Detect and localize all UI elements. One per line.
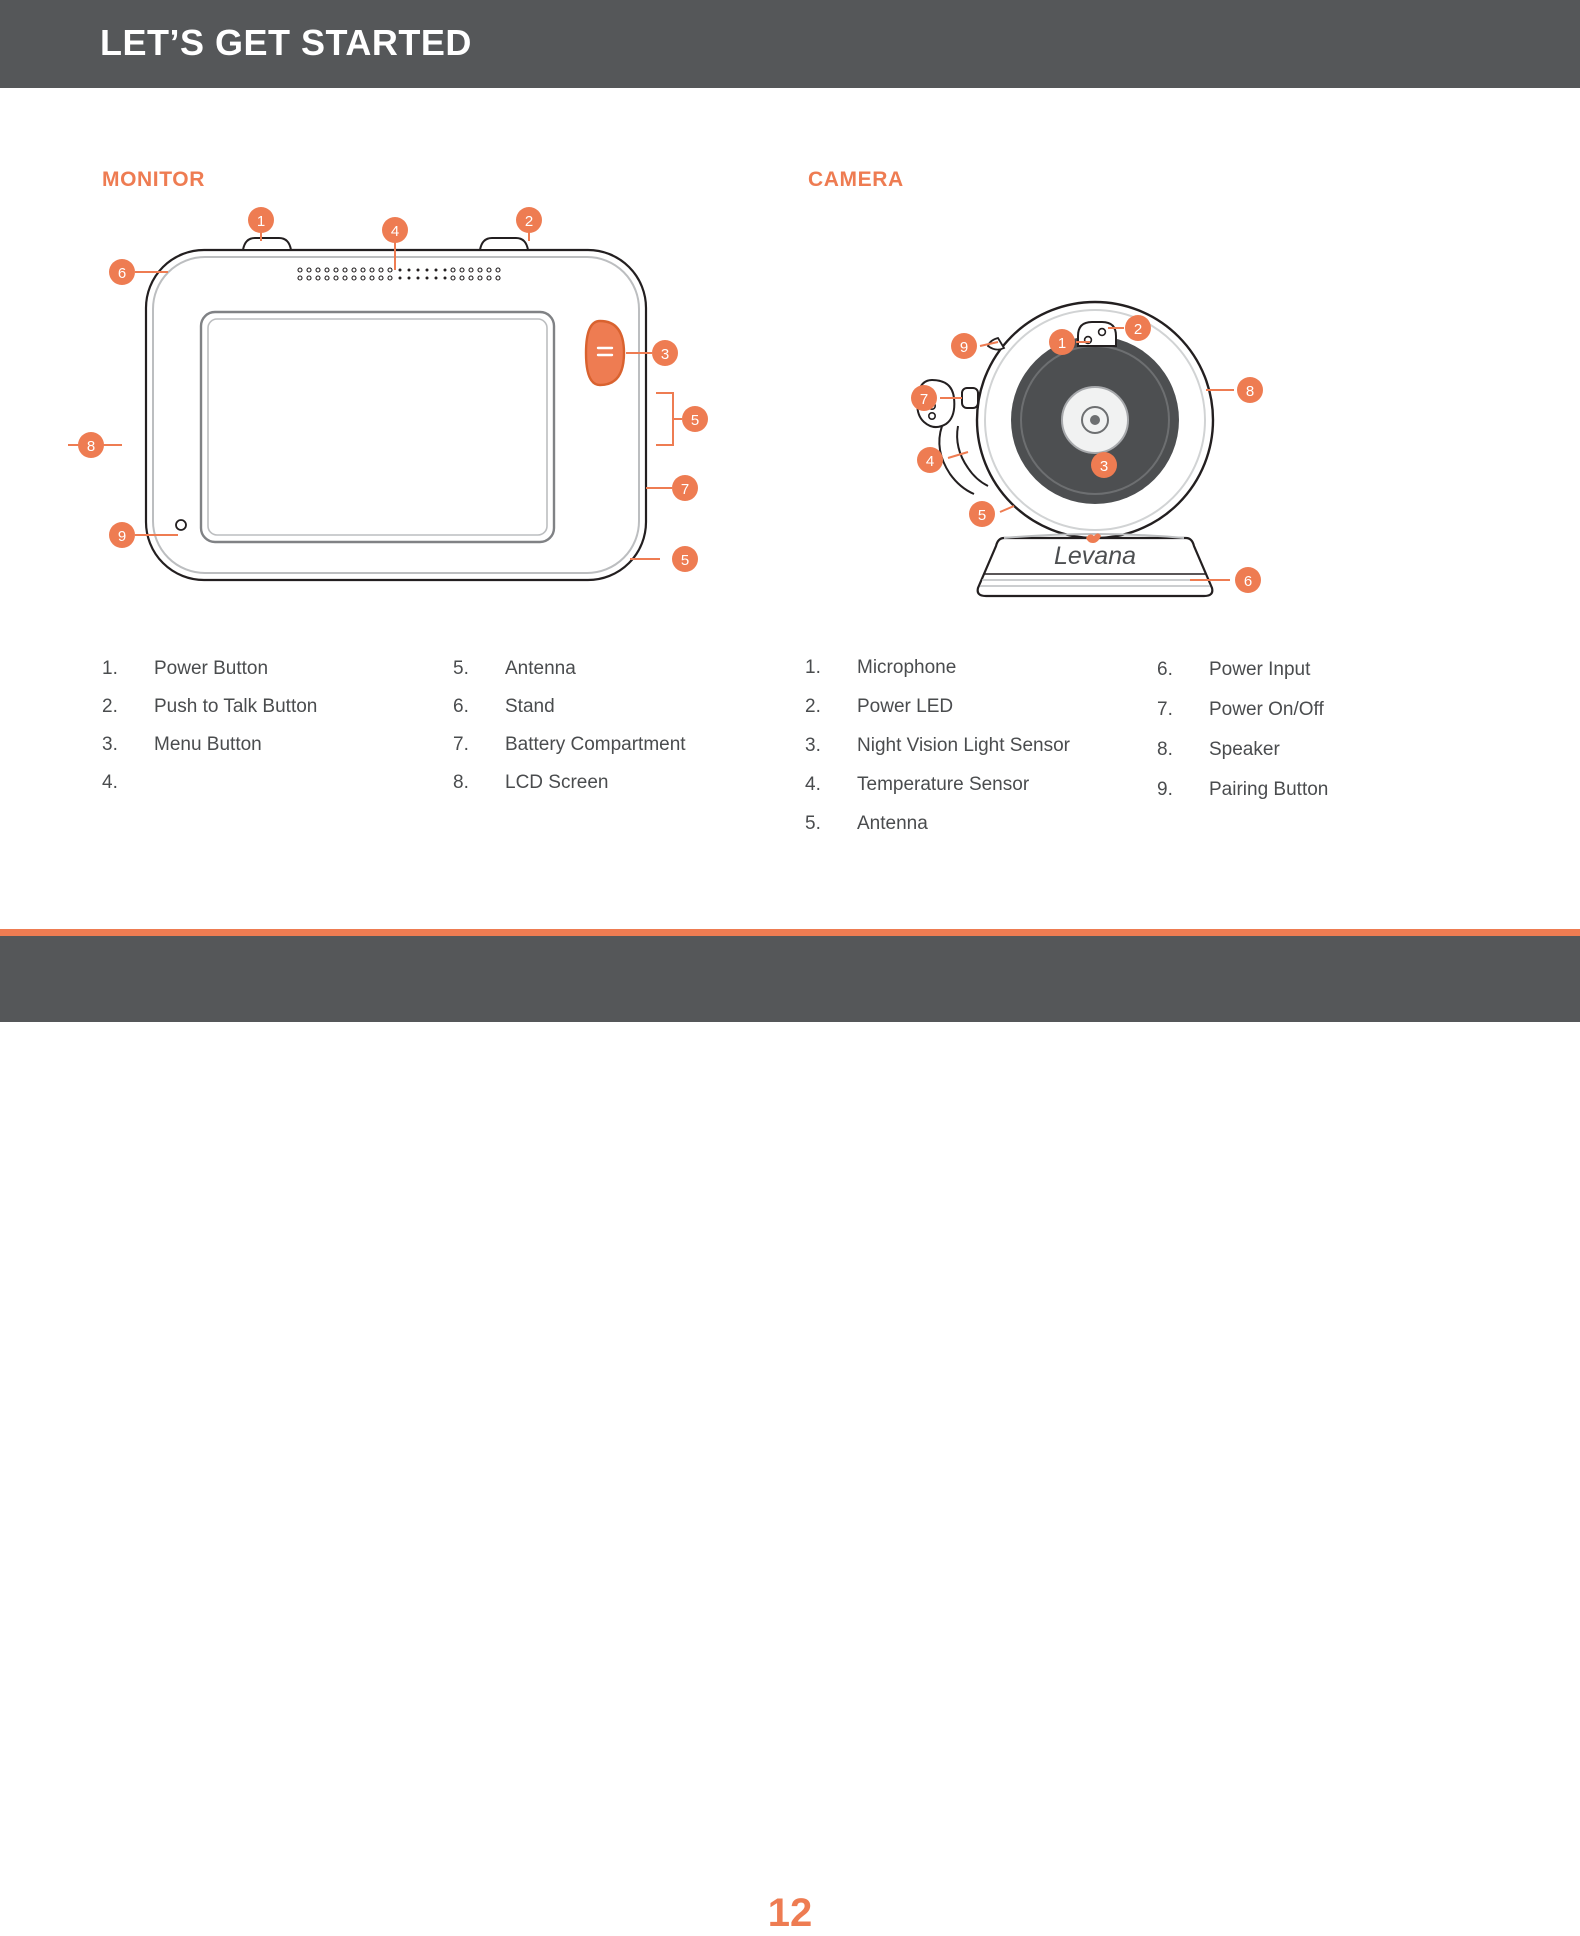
monitor-callout-8[interactable]: 8 bbox=[78, 432, 104, 458]
monitor-callout-1[interactable]: 1 bbox=[248, 207, 274, 233]
monitor-menu-button[interactable] bbox=[586, 321, 624, 385]
list-item-number: 5. bbox=[805, 804, 857, 843]
list-item-label: Stand bbox=[505, 688, 555, 726]
monitor-illustration: 1 2 3 4 5 5 6 7 8 9 bbox=[60, 195, 760, 595]
monitor-callout-4[interactable]: 4 bbox=[382, 217, 408, 270]
list-item: 7.Power On/Off bbox=[1157, 690, 1328, 730]
list-item-number: 7. bbox=[453, 726, 505, 764]
camera-callout-7[interactable]: 7 bbox=[911, 385, 937, 411]
list-item: 9.Pairing Button bbox=[1157, 770, 1328, 810]
monitor-callout-9[interactable]: 9 bbox=[109, 522, 135, 548]
list-item: 8.LCD Screen bbox=[453, 764, 686, 802]
callout-number: 8 bbox=[1246, 383, 1254, 400]
monitor-callout-5b[interactable]: 5 bbox=[672, 546, 698, 572]
list-item-number: 9. bbox=[1157, 770, 1209, 810]
callout-number: 7 bbox=[681, 481, 689, 498]
camera-callout-3[interactable]: 3 bbox=[1091, 452, 1117, 478]
camera-callout-5[interactable]: 5 bbox=[969, 501, 995, 527]
list-item-label: Antenna bbox=[505, 650, 576, 688]
page-number: 12 bbox=[0, 1891, 1580, 1936]
callout-number: 2 bbox=[525, 213, 533, 230]
list-item-number: 1. bbox=[102, 650, 154, 688]
list-item-label: Power LED bbox=[857, 687, 953, 726]
callout-number: 6 bbox=[1244, 573, 1252, 590]
list-item-label: Power Input bbox=[1209, 650, 1310, 690]
list-item-number: 2. bbox=[102, 688, 154, 726]
list-item-number: 3. bbox=[102, 726, 154, 764]
list-item-number: 6. bbox=[1157, 650, 1209, 690]
list-item-label: Microphone bbox=[857, 648, 956, 687]
callout-number: 2 bbox=[1134, 321, 1142, 338]
list-item-number: 7. bbox=[1157, 690, 1209, 730]
callout-number: 3 bbox=[661, 346, 669, 363]
list-item-number: 1. bbox=[805, 648, 857, 687]
list-item: 4.Temperature Sensor bbox=[805, 765, 1070, 804]
monitor-callout-5a[interactable]: 5 bbox=[682, 406, 708, 432]
list-item: 1.Microphone bbox=[805, 648, 1070, 687]
camera-callout-2[interactable]: 2 bbox=[1125, 315, 1151, 341]
camera-legend-right: 6.Power Input 7.Power On/Off 8.Speaker 9… bbox=[1157, 650, 1328, 810]
brand-text: Levana bbox=[1054, 542, 1136, 570]
list-item: 4. bbox=[102, 764, 317, 802]
callout-number: 9 bbox=[960, 339, 968, 356]
list-item: 7.Battery Compartment bbox=[453, 726, 686, 764]
list-item: 5.Antenna bbox=[453, 650, 686, 688]
callout-number: 7 bbox=[920, 391, 928, 408]
callout-number: 5 bbox=[681, 552, 689, 569]
list-item-label: Temperature Sensor bbox=[857, 765, 1029, 804]
callout-number: 8 bbox=[87, 438, 95, 455]
camera-legend-left: 1.Microphone 2.Power LED 3.Night Vision … bbox=[805, 648, 1070, 843]
list-item-label: LCD Screen bbox=[505, 764, 609, 802]
callout-number: 1 bbox=[257, 213, 265, 230]
callout-number: 4 bbox=[926, 453, 934, 470]
list-item-number: 4. bbox=[102, 764, 154, 802]
camera-power-jack[interactable] bbox=[962, 388, 978, 408]
list-item-label: Battery Compartment bbox=[505, 726, 686, 764]
callout-number: 5 bbox=[691, 412, 699, 429]
list-item-number: 5. bbox=[453, 650, 505, 688]
camera-callout-8[interactable]: 8 bbox=[1237, 377, 1263, 403]
section-heading-camera: CAMERA bbox=[808, 168, 904, 192]
monitor-lcd-screen bbox=[208, 319, 547, 535]
camera-callout-4[interactable]: 4 bbox=[917, 447, 943, 473]
callout-number: 4 bbox=[391, 223, 399, 240]
list-item-number: 8. bbox=[1157, 730, 1209, 770]
callout-number: 3 bbox=[1100, 458, 1108, 475]
monitor-legend-right: 5.Antenna 6.Stand 7.Battery Compartment … bbox=[453, 650, 686, 802]
list-item: 3.Night Vision Light Sensor bbox=[805, 726, 1070, 765]
callout-number: 9 bbox=[118, 528, 126, 545]
camera-callout-6[interactable]: 6 bbox=[1235, 567, 1261, 593]
monitor-speaker-grille bbox=[298, 268, 500, 280]
list-item: 1.Power Button bbox=[102, 650, 317, 688]
monitor-power-button-nub[interactable] bbox=[243, 238, 291, 250]
list-item-number: 6. bbox=[453, 688, 505, 726]
page-title: LET’S GET STARTED bbox=[100, 22, 472, 64]
list-item-label: Power On/Off bbox=[1209, 690, 1324, 730]
list-item-label: Pairing Button bbox=[1209, 770, 1328, 810]
list-item: 6.Power Input bbox=[1157, 650, 1328, 690]
camera-lens-center bbox=[1090, 415, 1100, 425]
monitor-callout-2[interactable]: 2 bbox=[516, 207, 542, 233]
list-item-number: 3. bbox=[805, 726, 857, 765]
callout-number: 6 bbox=[118, 265, 126, 282]
page-header: LET’S GET STARTED bbox=[0, 0, 1580, 88]
list-item-label: Power Button bbox=[154, 650, 268, 688]
monitor-legend-left: 1.Power Button 2.Push to Talk Button 3.M… bbox=[102, 650, 317, 802]
list-item-number: 2. bbox=[805, 687, 857, 726]
list-item-label: Speaker bbox=[1209, 730, 1280, 770]
list-item: 2.Push to Talk Button bbox=[102, 688, 317, 726]
list-item-label: Night Vision Light Sensor bbox=[857, 726, 1070, 765]
camera-illustration: Levana 1 2 3 4 5 6 7 bbox=[880, 280, 1300, 610]
list-item: 3.Menu Button bbox=[102, 726, 317, 764]
section-heading-monitor: MONITOR bbox=[102, 168, 205, 192]
camera-callout-1[interactable]: 1 bbox=[1049, 329, 1075, 355]
monitor-callout-6[interactable]: 6 bbox=[109, 259, 135, 285]
footer-accent-rule bbox=[0, 929, 1580, 936]
monitor-indicator-led bbox=[176, 520, 186, 530]
monitor-callout-7[interactable]: 7 bbox=[672, 475, 698, 501]
callout-number: 1 bbox=[1058, 335, 1066, 352]
callout-number: 5 bbox=[978, 507, 986, 524]
camera-callout-9[interactable]: 9 bbox=[951, 333, 977, 359]
list-item-label: Push to Talk Button bbox=[154, 688, 317, 726]
list-item: 5.Antenna bbox=[805, 804, 1070, 843]
monitor-callout-3[interactable]: 3 bbox=[652, 340, 678, 366]
list-item-label: Antenna bbox=[857, 804, 928, 843]
list-item: 8.Speaker bbox=[1157, 730, 1328, 770]
list-item-number: 4. bbox=[805, 765, 857, 804]
page-footer: 12 bbox=[0, 936, 1580, 1022]
monitor-push-to-talk-nub[interactable] bbox=[480, 238, 528, 250]
list-item-number: 8. bbox=[453, 764, 505, 802]
list-item: 6.Stand bbox=[453, 688, 686, 726]
list-item-label: Menu Button bbox=[154, 726, 262, 764]
list-item: 2.Power LED bbox=[805, 687, 1070, 726]
